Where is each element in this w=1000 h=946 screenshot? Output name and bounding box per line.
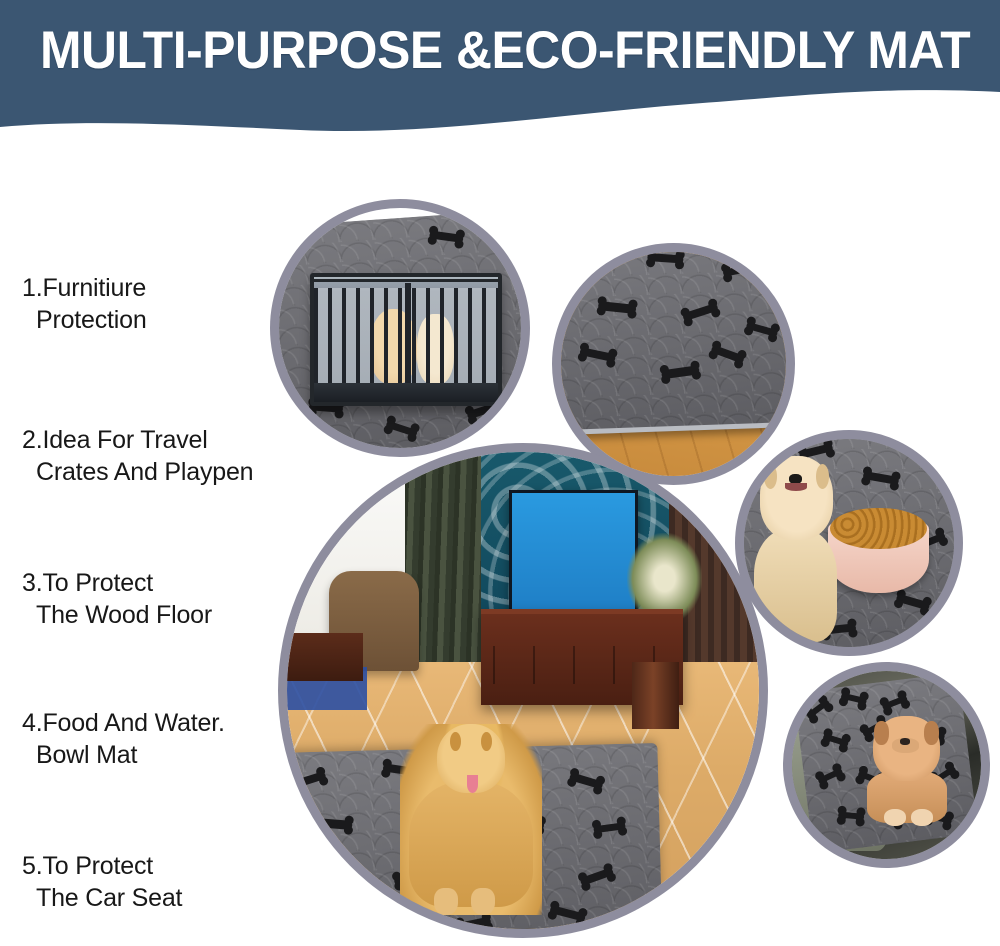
photo-circle-living-room	[278, 443, 768, 938]
feature-3-number: 3.	[22, 569, 42, 597]
photo-circle-crate	[270, 199, 530, 457]
car-seat-scene	[792, 671, 981, 859]
puppy-paw-left	[884, 809, 906, 826]
feature-4-line2: Bowl Mat	[22, 739, 225, 771]
retriever-ear-right	[816, 464, 829, 489]
infographic-page: MULTI-PURPOSE &ECO-FRIENDLY MAT 1.Furnit…	[0, 0, 1000, 946]
feature-4-line1: Food And Water.	[42, 709, 224, 737]
retriever-body	[754, 529, 837, 642]
crate-divider	[405, 283, 411, 395]
retriever-paw-right	[471, 888, 495, 915]
puppy-nose	[900, 738, 911, 745]
header-banner: MULTI-PURPOSE &ECO-FRIENDLY MAT	[0, 0, 1000, 150]
puppy-head	[873, 716, 940, 781]
retriever-mouth	[785, 483, 807, 491]
feature-2-line1: Idea For Travel	[42, 426, 207, 454]
puppy-paw-right	[911, 809, 933, 826]
feature-2-line2: Crates And Playpen	[22, 456, 253, 488]
feature-item-3: 3.To Protect The Wood Floor	[22, 535, 212, 663]
feature-3-line2: The Wood Floor	[22, 599, 212, 631]
photo-circle-car-seat	[783, 662, 990, 868]
coffee-table	[287, 633, 363, 681]
crate-scene	[279, 208, 521, 448]
pedestal-column	[632, 662, 679, 729]
feature-5-number: 5.	[22, 852, 42, 880]
feature-1-number: 1.	[22, 274, 42, 302]
dog-crate	[310, 273, 502, 406]
golden-retriever	[748, 456, 845, 639]
feature-5-line1: To Protect	[42, 852, 153, 880]
golden-retriever	[400, 724, 542, 915]
feature-item-4: 4.Food And Water. Bowl Mat	[22, 675, 225, 803]
feature-item-5: 5.To Protect The Car Seat	[22, 818, 182, 946]
living-room-scene	[287, 452, 759, 929]
feature-1-line2: Protection	[22, 304, 147, 336]
feature-3-line1: To Protect	[42, 569, 153, 597]
feature-2-number: 2.	[22, 426, 42, 454]
feature-5-line2: The Car Seat	[22, 882, 182, 914]
feature-4-number: 4.	[22, 709, 42, 737]
puppy-ear-left	[874, 721, 889, 744]
bordeaux-puppy	[864, 716, 955, 821]
feature-1-line1: Furnitiure	[42, 274, 146, 302]
television	[509, 490, 638, 615]
photo-circle-food-bowl	[735, 430, 963, 656]
retriever-paw-left	[434, 888, 458, 915]
crate-top-panel	[310, 273, 502, 282]
food-bowl-scene	[744, 439, 954, 647]
puppy-ear-right	[924, 721, 939, 744]
page-title: MULTI-PURPOSE &ECO-FRIENDLY MAT	[40, 22, 924, 80]
retriever-ear-right	[481, 732, 492, 751]
crate-base	[314, 383, 498, 402]
retriever-head	[760, 456, 833, 540]
feature-item-1: 1.Furnitiure Protection	[22, 240, 147, 368]
retriever-ear-left	[764, 464, 777, 489]
mat-surface	[561, 252, 786, 436]
retriever-ear-left	[450, 732, 461, 751]
retriever-tongue	[467, 775, 478, 792]
feature-item-2: 2.Idea For Travel Crates And Playpen	[22, 392, 253, 520]
retriever-body	[409, 781, 534, 907]
